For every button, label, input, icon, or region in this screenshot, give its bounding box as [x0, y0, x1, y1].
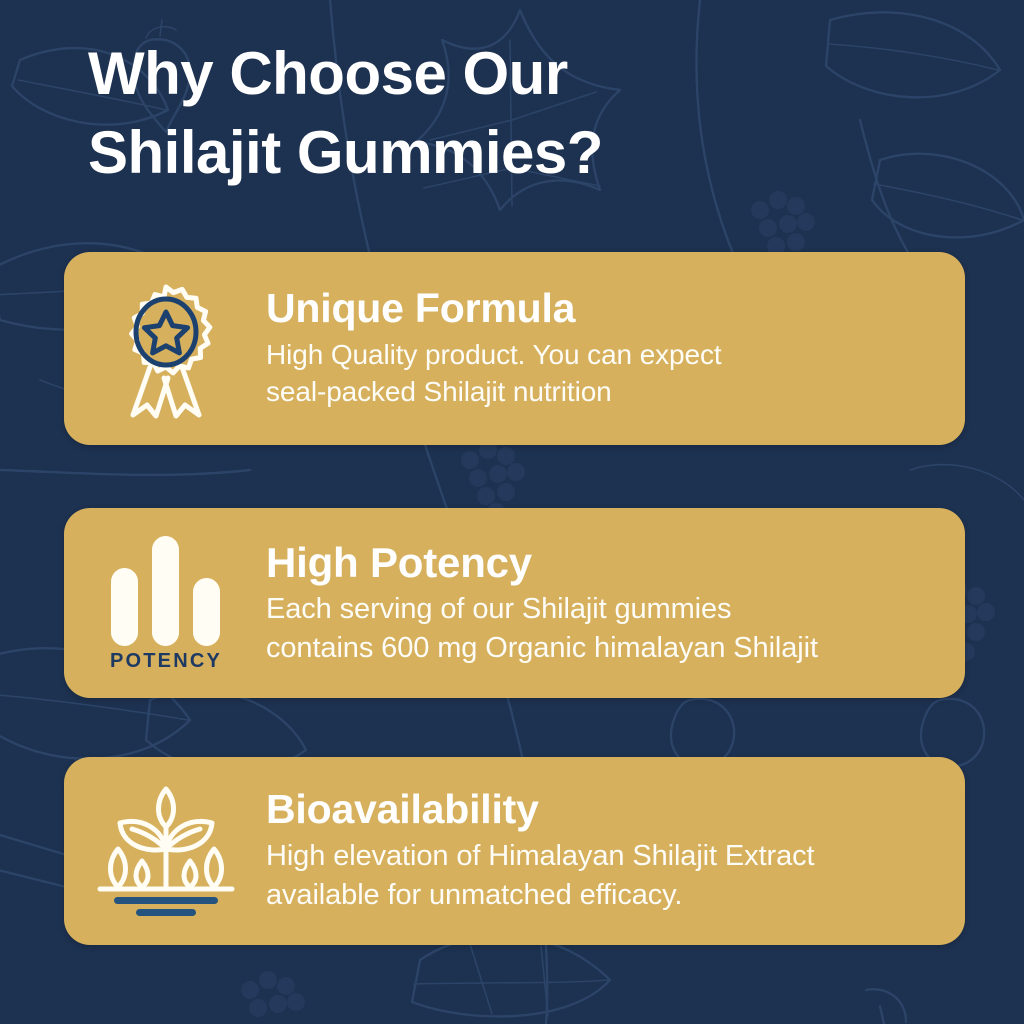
potency-bars-icon	[103, 534, 229, 648]
card-description: High elevation of Himalayan Shilajit Ext…	[266, 837, 947, 915]
poster-canvas: Why Choose Our Shilajit Gummies? Unique …	[0, 0, 1024, 1024]
card-description: High Quality product. You can expect sea…	[266, 336, 947, 411]
card-text-block: High Potency Each serving of our Shilaji…	[266, 539, 965, 668]
feature-card-high-potency[interactable]: POTENCY High Potency Each serving of our…	[64, 508, 965, 698]
page-title: Why Choose Our Shilajit Gummies?	[88, 34, 788, 192]
feature-card-bioavailability[interactable]: Bioavailability High elevation of Himala…	[64, 757, 965, 945]
feature-card-unique-formula[interactable]: Unique Formula High Quality product. You…	[64, 252, 965, 445]
award-ribbon-icon	[106, 279, 226, 419]
card-icon-slot	[64, 783, 268, 919]
card-text-block: Unique Formula High Quality product. You…	[266, 286, 965, 411]
card-description: Each serving of our Shilajit gummies con…	[266, 590, 947, 668]
card-icon-slot: POTENCY	[64, 534, 268, 673]
card-title: High Potency	[266, 539, 947, 586]
card-icon-slot	[64, 279, 268, 419]
card-title: Unique Formula	[266, 286, 947, 332]
card-title: Bioavailability	[266, 787, 947, 833]
sprout-plant-icon	[96, 783, 236, 919]
potency-icon-label: POTENCY	[110, 650, 222, 673]
card-text-block: Bioavailability High elevation of Himala…	[266, 787, 965, 915]
